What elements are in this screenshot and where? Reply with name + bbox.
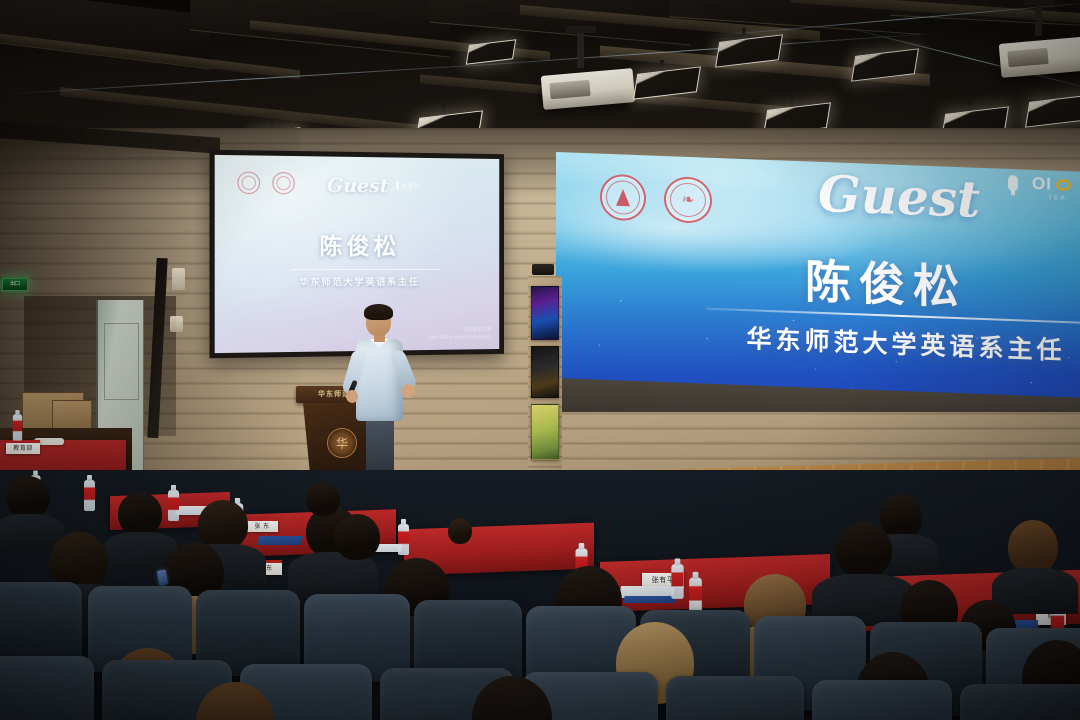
audience-head [198, 500, 248, 550]
lotus-glyph: ❧ [682, 192, 695, 207]
auditorium-seat [666, 676, 804, 720]
water-bottle [13, 414, 22, 440]
led-speaker-name: 陈俊松 [736, 243, 1036, 320]
projection-speaker-title: 华东师范大学英语系主任 [215, 275, 500, 289]
watermark-line-2: East China Normal University [429, 334, 492, 342]
ceiling-projector [999, 36, 1080, 78]
ceiling-projector [541, 68, 636, 110]
auditorium-seat [812, 680, 952, 720]
ceiling-spotlight [633, 66, 701, 99]
projection-speaker-name: 陈俊松 [215, 226, 500, 261]
poster-yellow[interactable] [531, 404, 559, 460]
led-guest-label: Guest [818, 164, 980, 229]
handout-booklet [623, 596, 676, 603]
audience-head [6, 476, 50, 518]
brand-ring-icon [1056, 179, 1071, 192]
auditorium-seat [960, 684, 1080, 720]
name-card: 张 东 [246, 518, 278, 532]
audience-head [448, 518, 472, 544]
auditorium-seat [0, 656, 94, 720]
lotus-seal-icon [272, 172, 294, 194]
microphone-icon [1008, 175, 1018, 191]
water-bottle [689, 578, 702, 614]
sponsor-badge: 外教社 [397, 181, 421, 190]
auditorium-seat [0, 582, 82, 664]
audience-head [334, 514, 380, 560]
projector-ceiling-plate [1024, 0, 1054, 5]
handout-booklet [257, 536, 303, 545]
lotus-seal-icon: ❧ [664, 176, 712, 224]
ecnu-tree-seal-icon [600, 174, 646, 222]
water-bottle [168, 490, 179, 521]
exit-sign: 出口 [2, 278, 28, 291]
tree-glyph [616, 189, 630, 207]
wall-speaker [172, 268, 185, 290]
brand-wordmark: OI [1032, 174, 1052, 195]
water-bottle [671, 564, 683, 599]
ceiling-spotlight [1025, 94, 1080, 127]
cardboard-box [52, 400, 92, 430]
poster-dark[interactable] [531, 346, 559, 398]
projector-ceiling-plate [566, 26, 596, 33]
speaker-right-hand [402, 384, 415, 398]
audience-head [1008, 520, 1058, 574]
projection-guest-label: Guest [327, 175, 388, 198]
name-card-label: 张 东 [246, 521, 278, 532]
poster-purple[interactable] [531, 286, 559, 340]
led-video-wall: ❧ Guest 陈俊松 华东师范大学英语系主任 OI TEA [556, 152, 1080, 412]
exit-sign-label: 出口 [3, 279, 27, 290]
audience-head [306, 482, 340, 516]
audience-area: 张 东 张 东 张有平 姚 姚 [0, 470, 1080, 720]
water-bottle [398, 524, 409, 555]
speaker-person [344, 306, 418, 488]
name-card: 教育部 [6, 440, 40, 454]
ecnu-tree-seal-icon [237, 172, 260, 195]
led-screen-surface: ❧ Guest 陈俊松 华东师范大学英语系主任 OI TEA [556, 152, 1080, 412]
wall-poster-column [528, 276, 562, 472]
glasses-icon [368, 317, 389, 321]
audience-head [118, 492, 162, 536]
projector-mount [1035, 2, 1042, 36]
sponsor-badge-label: 外教社 [402, 184, 421, 190]
projector-mount [577, 30, 584, 68]
audience-head [836, 522, 892, 578]
name-card-label: 教育部 [6, 443, 40, 454]
water-bottle [84, 480, 95, 511]
lecture-hall-photo: 出口 教育部 Guest 外教社 陈俊松 华东师范大学英语系主任 华东师范大学 … [0, 0, 1080, 720]
wall-speaker [170, 316, 183, 332]
brand-subtext: TEA [1048, 194, 1066, 202]
projection-watermark: 华东师范大学 East China Normal University [429, 327, 492, 343]
wall-speaker [532, 264, 554, 275]
